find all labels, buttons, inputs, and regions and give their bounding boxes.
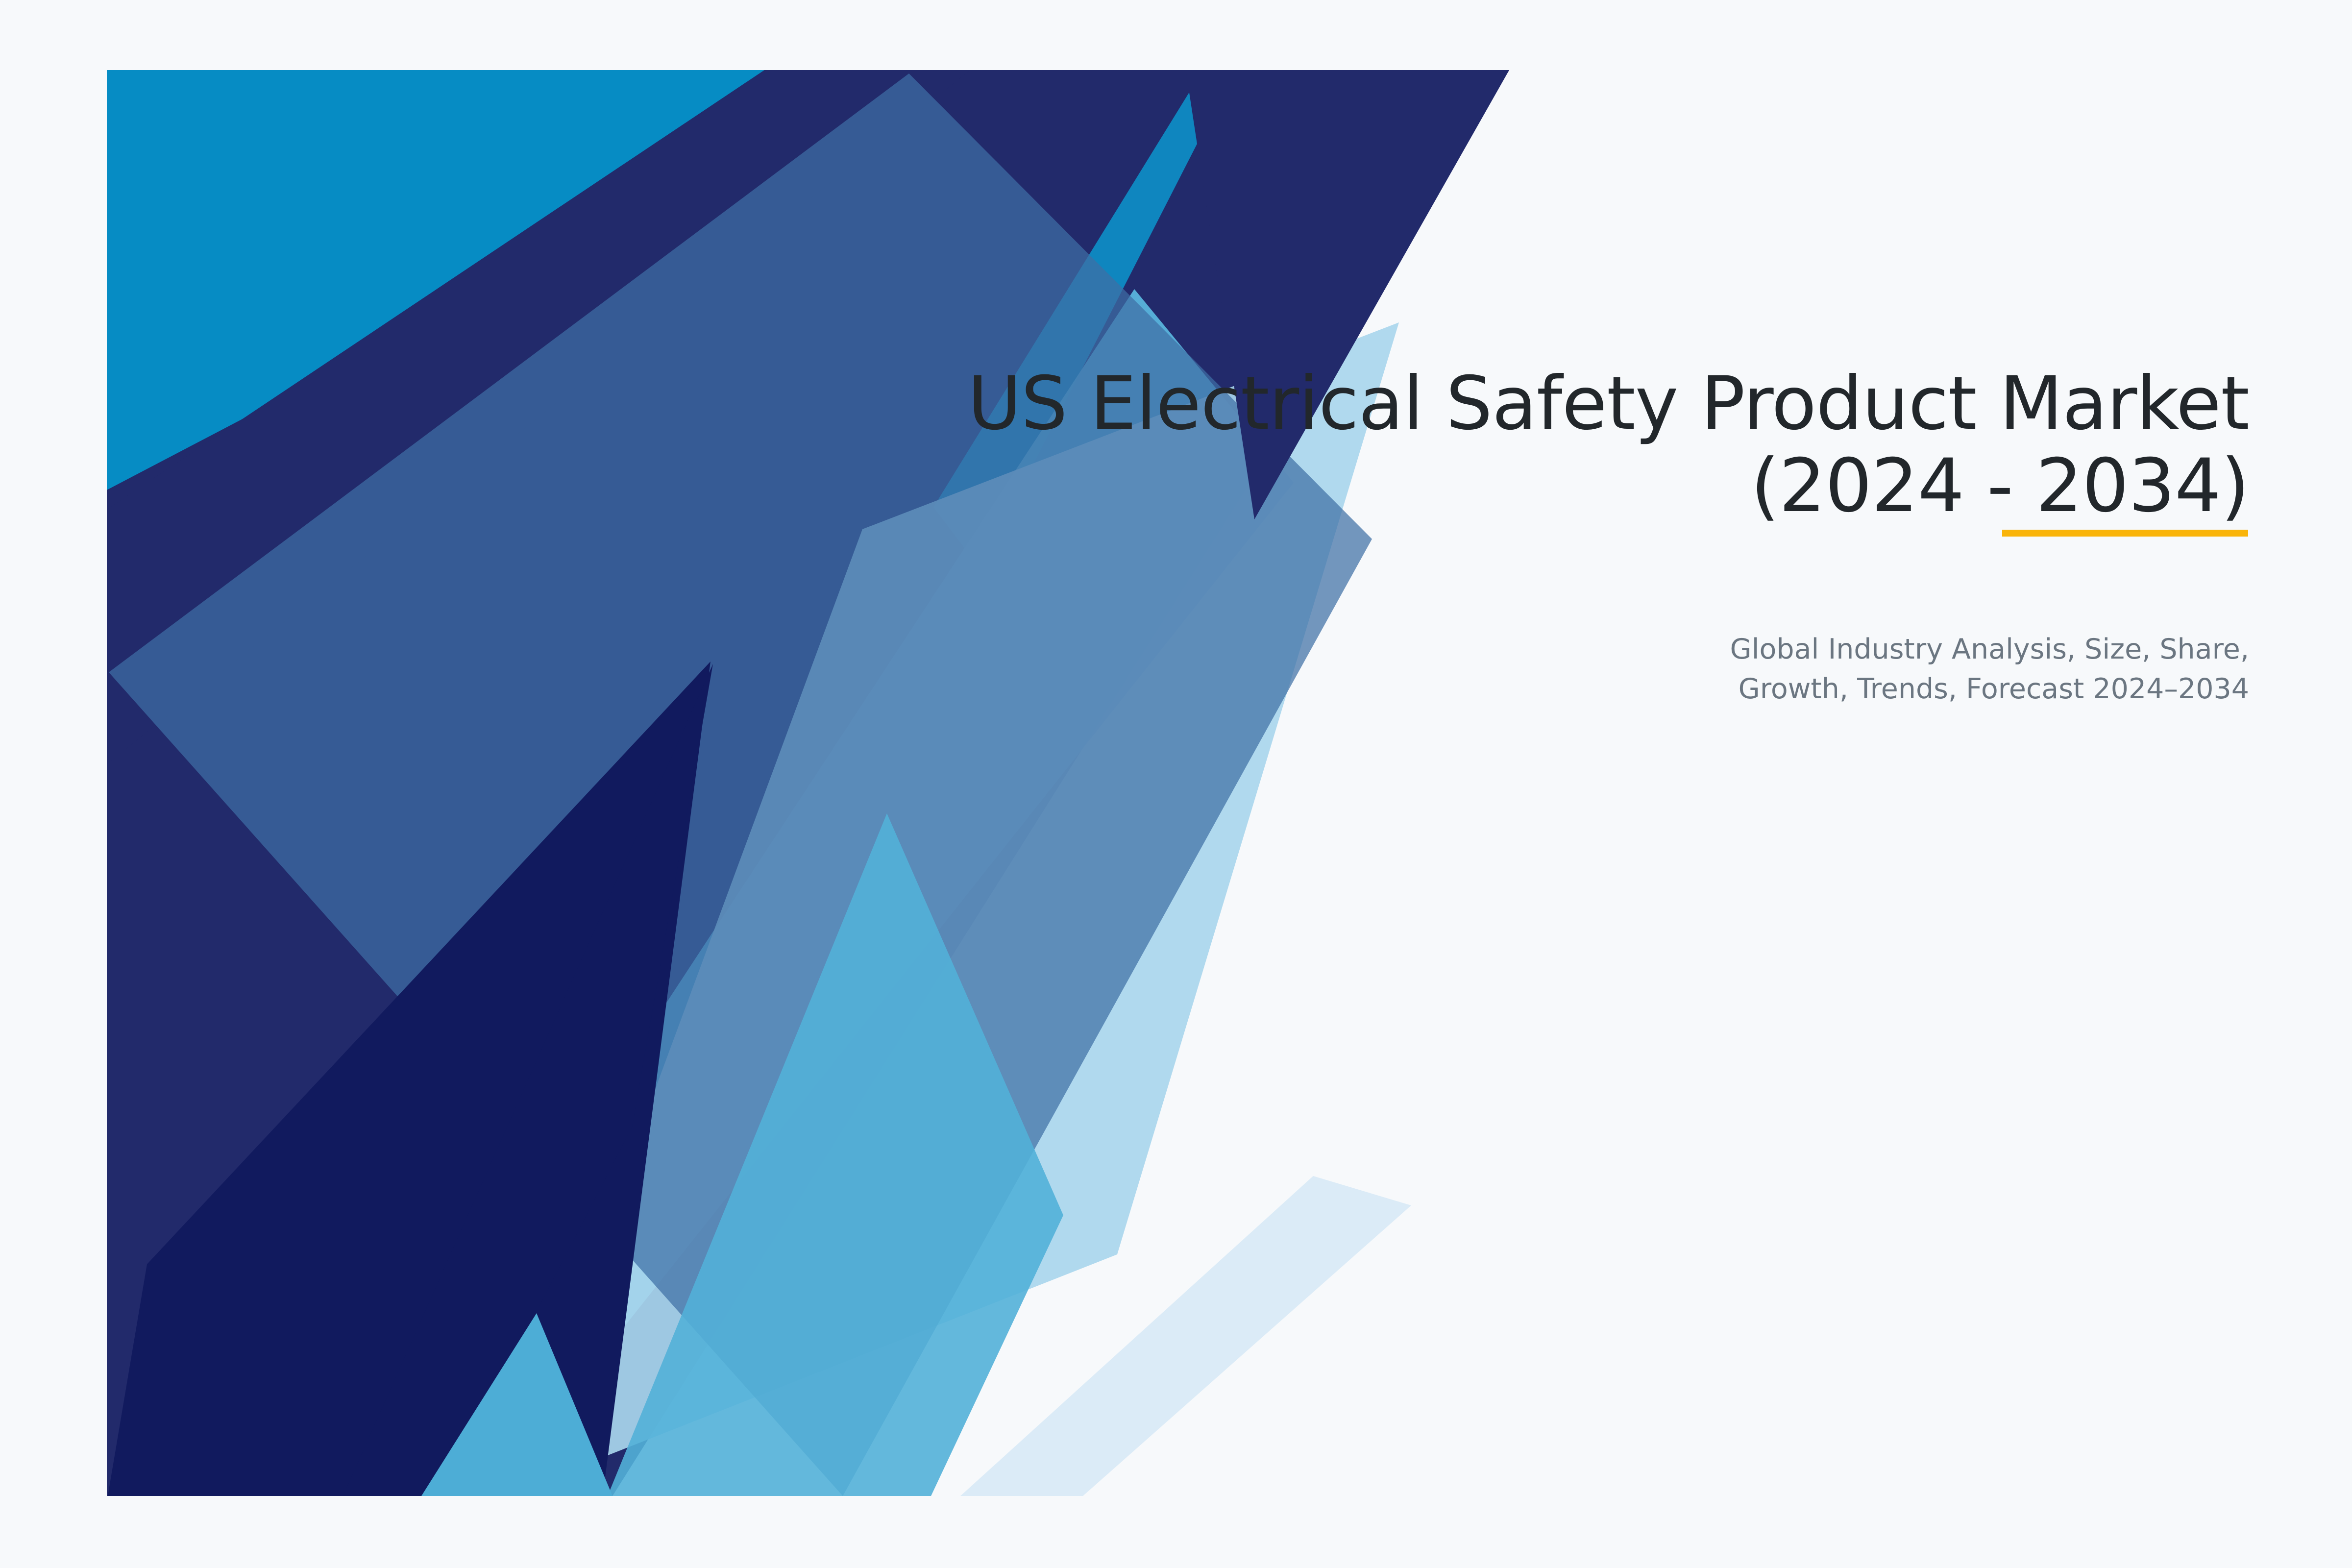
artwork-right-gutter [1510,0,2352,1568]
artwork-left-gutter [0,0,107,1568]
cover-page: US Electrical Safety Product Market (202… [0,0,2352,1568]
page-subtitle: Global Industry Analysis, Size, Share, G… [1421,630,2249,709]
page-title: US Electrical Safety Product Market (202… [735,363,2249,527]
cover-artwork [0,0,2352,1568]
cover-heading-group: US Electrical Safety Product Market (202… [735,363,2249,527]
cover-subheading-group: Global Industry Analysis, Size, Share, G… [1421,630,2249,709]
artwork-top-gutter [0,0,2352,70]
title-accent-rule [2002,530,2248,537]
artwork-bottom-gutter [0,1497,2352,1568]
